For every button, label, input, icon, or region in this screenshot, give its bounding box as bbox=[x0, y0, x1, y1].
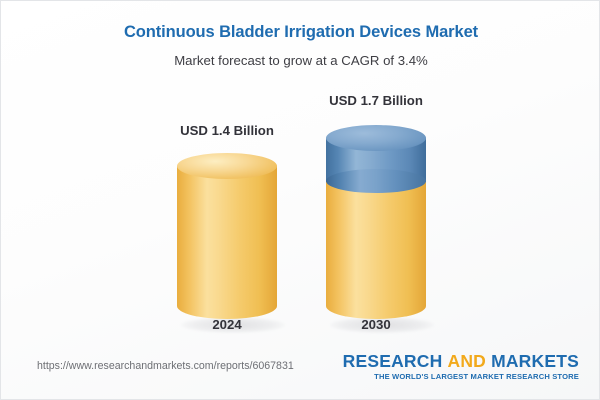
bar-2024[interactable] bbox=[177, 153, 277, 306]
logo-word-and: AND bbox=[447, 351, 486, 371]
category-label-2030: 2030 bbox=[296, 317, 456, 332]
chart-title: Continuous Bladder Irrigation Devices Ma… bbox=[1, 1, 600, 43]
logo-word-research: RESEARCH bbox=[343, 351, 443, 371]
chart-subtitle: Market forecast to grow at a CAGR of 3.4… bbox=[1, 43, 600, 69]
research-and-markets-logo[interactable]: RESEARCH AND MARKETS THE WORLD'S LARGEST… bbox=[343, 352, 579, 381]
chart-footer: https://www.researchandmarkets.com/repor… bbox=[1, 341, 600, 399]
logo-tagline: THE WORLD'S LARGEST MARKET RESEARCH STOR… bbox=[343, 372, 579, 381]
category-label-2024: 2024 bbox=[147, 317, 307, 332]
bar-group-2030: USD 1.7 Billion 2030 bbox=[296, 91, 456, 341]
bar-top-ellipse-2030 bbox=[326, 125, 426, 151]
bar-body-2024 bbox=[177, 166, 277, 306]
logo-word-markets: MARKETS bbox=[491, 351, 579, 371]
chart-card: Continuous Bladder Irrigation Devices Ma… bbox=[0, 0, 600, 400]
chart-plot-area: USD 1.4 Billion 2024 USD 1.7 Billion bbox=[1, 91, 600, 341]
bar-segment-divider-2030 bbox=[326, 169, 426, 193]
bar-top-ellipse-2024 bbox=[177, 153, 277, 179]
bar-group-2024: USD 1.4 Billion 2024 bbox=[147, 91, 307, 341]
chart-header: Continuous Bladder Irrigation Devices Ma… bbox=[1, 1, 600, 69]
logo-wordmark: RESEARCH AND MARKETS bbox=[343, 352, 579, 370]
value-label-2024: USD 1.4 Billion bbox=[147, 123, 307, 138]
bar-2030[interactable] bbox=[326, 125, 426, 306]
source-url[interactable]: https://www.researchandmarkets.com/repor… bbox=[37, 360, 294, 372]
value-label-2030: USD 1.7 Billion bbox=[296, 93, 456, 108]
